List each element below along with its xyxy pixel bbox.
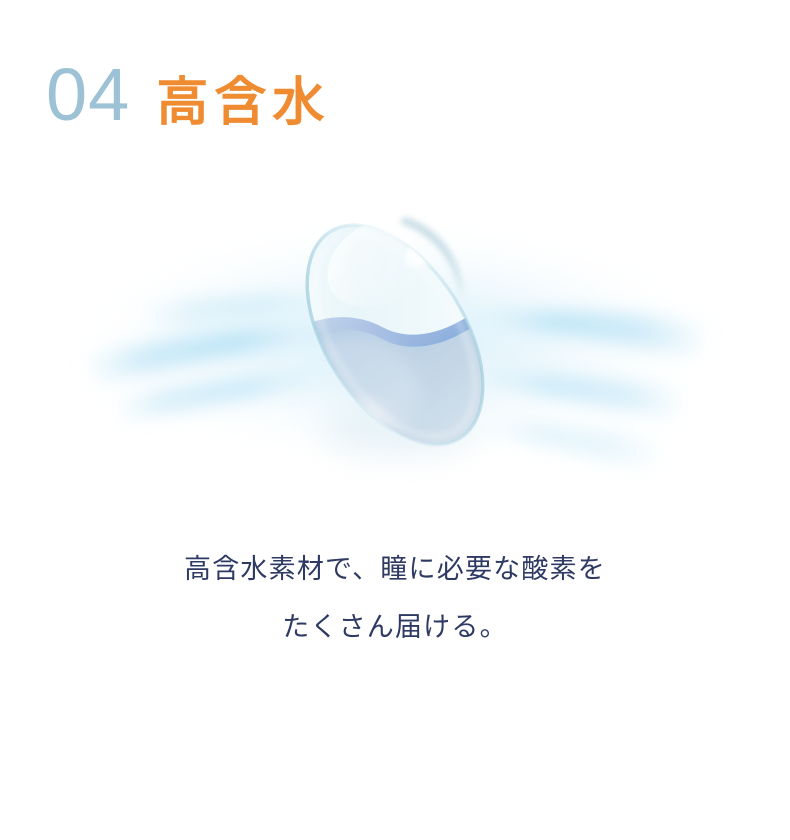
page-title: 高含水 <box>156 77 330 129</box>
hero-illustration <box>0 185 790 485</box>
feature-card-high-water-content: 04 高含水 <box>0 0 790 840</box>
caption-line-1: 高含水素材で、瞳に必要な酸素を <box>0 540 790 598</box>
caption-text: 高含水素材で、瞳に必要な酸素を たくさん届ける。 <box>0 540 790 656</box>
contact-lens-with-water-icon <box>0 185 790 485</box>
caption-line-2: たくさん届ける。 <box>0 598 790 656</box>
page-heading: 04 高含水 <box>46 58 330 132</box>
heading-step-number: 04 <box>46 58 130 132</box>
